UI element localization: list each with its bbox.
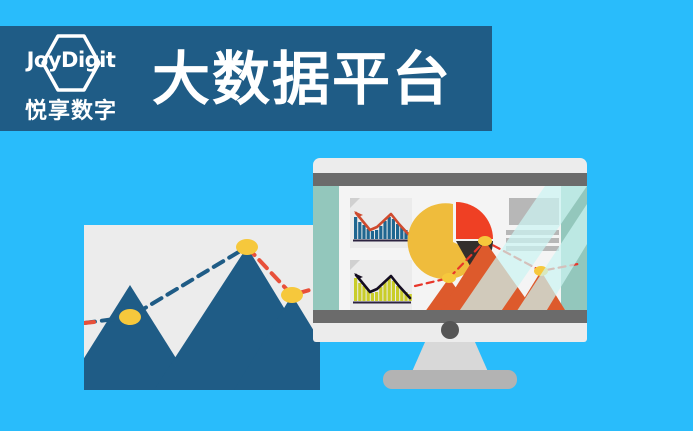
monitor-top-bezel [313, 173, 587, 186]
desktop-monitor [313, 158, 587, 342]
page-title: 大数据平台 [152, 50, 452, 108]
mountain-area-chart-svg [84, 225, 320, 390]
yellow-bar-chart-tile [350, 260, 412, 310]
brand-name-cn: 悦享数字 [12, 93, 130, 125]
power-indicator-dot[interactable] [441, 321, 459, 339]
brand-name-en: JoyDigit [12, 48, 130, 72]
brand-logo: JoyDigit 悦享数字 [12, 31, 130, 127]
monitor-screen [313, 186, 587, 323]
data-point-marker [442, 273, 456, 283]
header-banner: JoyDigit 悦享数字 大数据平台 [0, 26, 492, 131]
monitor-stand-base [383, 370, 517, 389]
mountain-line-chart-panel [84, 225, 320, 390]
blue-bar-chart-tile [350, 198, 412, 248]
screen-left-band [313, 186, 339, 323]
poster-canvas: JoyDigit 悦享数字 大数据平台 [0, 0, 693, 431]
dashboard-screen-svg [313, 186, 587, 323]
data-point-marker [478, 236, 492, 246]
